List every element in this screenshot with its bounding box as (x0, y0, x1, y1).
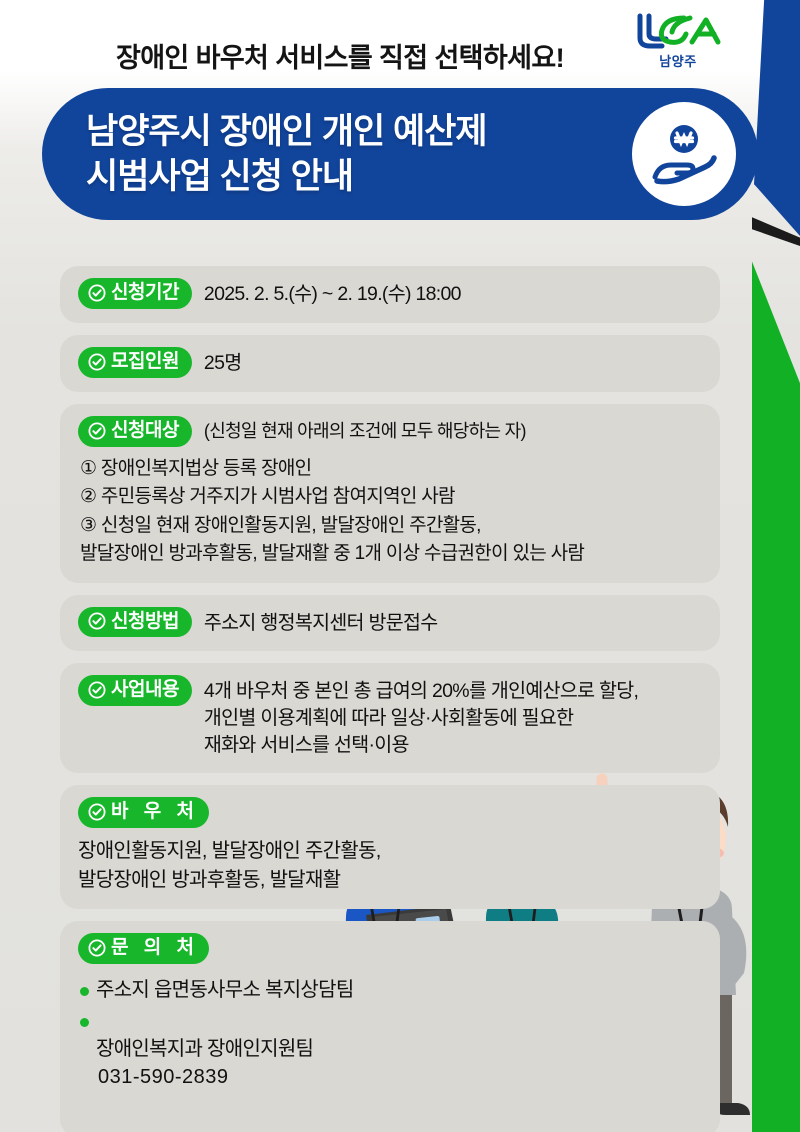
program-content-value: 4개 바우처 중 본인 총 급여의 20%를 개인예산으로 할당, 개인별 이용… (204, 675, 638, 759)
banner-title: 남양주시 장애인 개인 예산제 시범사업 신청 안내 (86, 110, 487, 200)
check-circle-icon (88, 803, 106, 821)
eligibility-criteria-list: ① 장애인복지법상 등록 장애인 ② 주민등록상 거주지가 시범사업 참여지역인… (78, 455, 702, 569)
badge-capacity: 모집인원 (78, 347, 192, 378)
title-banner: 남양주시 장애인 개인 예산제 시범사업 신청 안내 (42, 88, 758, 220)
namyangju-city-logo: 남양주 (632, 8, 724, 70)
check-circle-icon (88, 939, 106, 957)
section-application-period: 신청기간 2025. 2. 5.(수) ~ 2. 19.(수) 18:00 (60, 266, 720, 323)
badge-label: 신청대상 (111, 420, 179, 442)
badge-label: 신청방법 (111, 611, 179, 633)
check-circle-icon (88, 353, 106, 371)
contact-list: 주소지 읍면동사무소 복지상담팀 장애인복지과 장애인지원팀 031-590-2… (78, 977, 702, 1119)
eligibility-note: (신청일 현재 아래의 조건에 모두 해당하는 자) (204, 416, 526, 444)
badge-program-content: 사업내용 (78, 675, 192, 706)
section-capacity: 모집인원 25명 (60, 335, 720, 392)
badge-label: 문 의 처 (111, 937, 199, 959)
check-circle-icon (88, 681, 106, 699)
badge-application-period: 신청기간 (78, 278, 192, 309)
check-circle-icon (88, 612, 106, 630)
application-method-value: 주소지 행정복지센터 방문접수 (204, 607, 438, 637)
contact-phone: 031-590-2839 (96, 1064, 702, 1092)
logo-label: 남양주 (632, 51, 724, 70)
section-eligibility: 신청대상 (신청일 현재 아래의 조건에 모두 해당하는 자) ① 장애인복지법… (60, 404, 720, 583)
badge-vouchers: 바 우 처 (78, 797, 209, 828)
page-headline: 장애인 바우처 서비스를 직접 선택하세요! (0, 36, 680, 75)
list-item: ① 장애인복지법상 등록 장애인 (78, 455, 702, 484)
poster-canvas: 남양주 장애인 바우처 서비스를 직접 선택하세요! 남양주시 장애인 개인 예… (0, 0, 800, 1132)
edge-band-blue (754, 0, 800, 236)
badge-label: 사업내용 (111, 679, 179, 701)
section-vouchers: 바 우 처 장애인활동지원, 발달장애인 주간활동, 발당장애인 방과후활동, … (60, 785, 720, 909)
contact-team-label: 장애인복지과 장애인지원팀 (96, 1038, 313, 1060)
content-sections: 신청기간 2025. 2. 5.(수) ~ 2. 19.(수) 18:00 모집… (0, 266, 760, 1132)
badge-contact: 문 의 처 (78, 933, 209, 964)
section-program-content: 사업내용 4개 바우처 중 본인 총 급여의 20%를 개인예산으로 할당, 개… (60, 663, 720, 773)
hand-holding-won-icon (632, 102, 736, 206)
list-item: ③ 신청일 현재 장애인활동지원, 발달장애인 주간활동, 발달장애인 방과후활… (78, 512, 702, 569)
capacity-value: 25명 (204, 347, 242, 377)
badge-label: 모집인원 (111, 351, 179, 373)
section-contact: 문 의 처 주소지 읍면동사무소 복지상담팀 장애인복지과 장애인지원팀 031… (60, 921, 720, 1132)
badge-application-method: 신청방법 (78, 607, 192, 638)
check-circle-icon (88, 284, 106, 302)
list-item: 주소지 읍면동사무소 복지상담팀 (78, 977, 702, 1005)
section-application-method: 신청방법 주소지 행정복지센터 방문접수 (60, 595, 720, 652)
list-item: ② 주민등록상 거주지가 시범사업 참여지역인 사람 (78, 483, 702, 512)
vouchers-value: 장애인활동지원, 발달장애인 주간활동, 발당장애인 방과후활동, 발달재활 (78, 837, 702, 895)
application-period-value: 2025. 2. 5.(수) ~ 2. 19.(수) 18:00 (204, 278, 461, 308)
badge-eligibility: 신청대상 (78, 416, 192, 447)
badge-label: 신청기간 (111, 282, 179, 304)
badge-label: 바 우 처 (111, 801, 199, 823)
list-item: 장애인복지과 장애인지원팀 031-590-2839 (78, 1008, 702, 1118)
check-circle-icon (88, 422, 106, 440)
